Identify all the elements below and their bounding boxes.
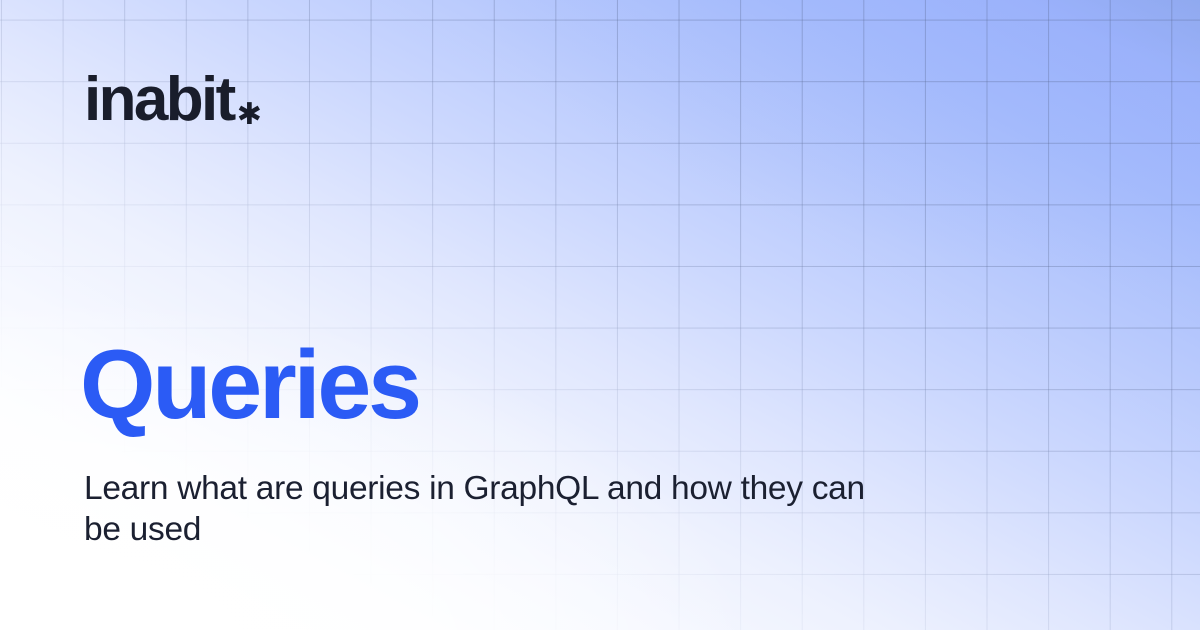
brand-wordmark: inabit: [84, 69, 234, 131]
page-subtitle: Learn what are queries in GraphQL and ho…: [84, 468, 884, 550]
page-title: Queries: [80, 336, 419, 433]
og-card: inabit ✱ Queries Learn what are queries …: [0, 0, 1200, 630]
card-content: inabit ✱ Queries Learn what are queries …: [0, 0, 1200, 630]
brand-logo[interactable]: inabit ✱: [84, 69, 262, 131]
asterisk-icon: ✱: [237, 100, 262, 130]
